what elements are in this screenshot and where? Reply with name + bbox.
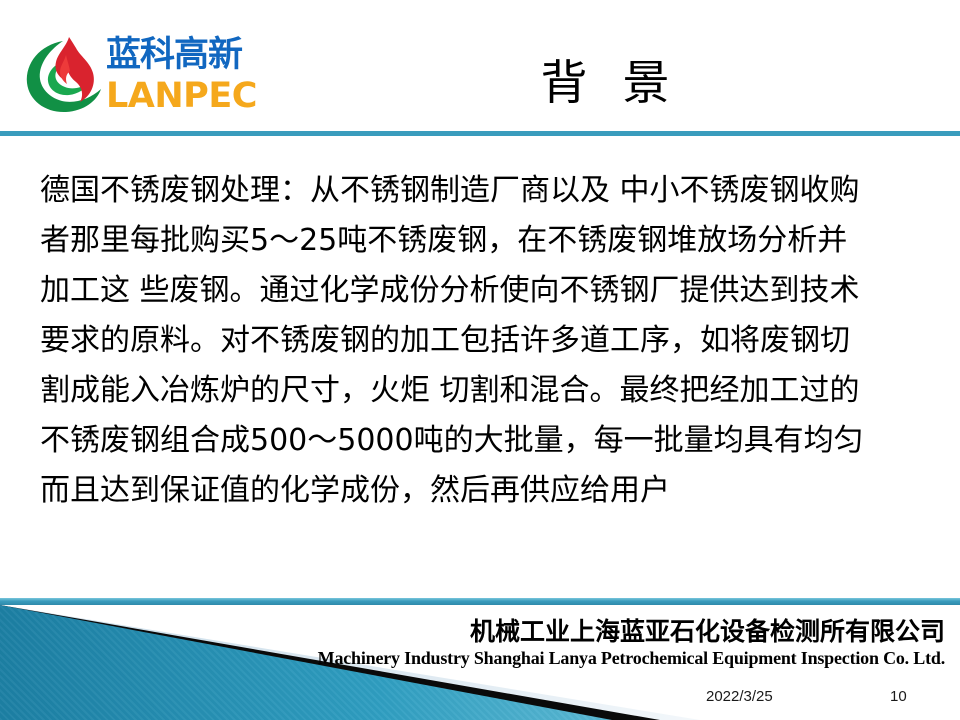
body-line: 加工这 些废钢。通过化学成份分析使向不锈钢厂提供达到技术 [40, 266, 930, 316]
slide-canvas: 蓝科高新 LANPEC 背 景 德国不锈废钢处理：从不锈钢制造厂商以及 中小不锈… [0, 0, 960, 720]
slide-header: 蓝科高新 LANPEC 背 景 [0, 0, 960, 131]
body-line: 不锈废钢组合成500～5000吨的大批量，每一批量均具有均匀 [40, 416, 930, 466]
footer-organization-chinese: 机械工业上海蓝亚石化设备检测所有限公司 [300, 612, 945, 648]
body-line: 要求的原料。对不锈废钢的加工包括许多道工序，如将废钢切 [40, 316, 930, 366]
footer-date: 2022/3/25 [706, 688, 773, 705]
slide-title: 背 景 [300, 44, 920, 113]
logo-chinese-name: 蓝科高新 [106, 33, 242, 77]
footer-page-number: 10 [890, 688, 930, 705]
body-line: 者那里每批购买5～25吨不锈废钢，在不锈废钢堆放场分析并 [40, 216, 930, 266]
header-divider [0, 131, 960, 136]
body-line: 割成能入冶炼炉的尺寸，火炬 切割和混合。最终把经加工过的 [40, 366, 930, 416]
logo-english-name: LANPEC [106, 76, 257, 116]
lanpec-flame-swoosh-logo-icon [22, 35, 104, 115]
logo-wordmark: 蓝科高新 LANPEC [106, 33, 276, 115]
footer-divider [0, 598, 960, 605]
slide-body-text: 德国不锈废钢处理：从不锈钢制造厂商以及 中小不锈废钢收购 者那里每批购买5～25… [40, 166, 930, 516]
body-line: 德国不锈废钢处理：从不锈钢制造厂商以及 中小不锈废钢收购 [40, 166, 930, 216]
footer-organization-english: Machinery Industry Shanghai Lanya Petroc… [180, 648, 945, 669]
company-logo: 蓝科高新 LANPEC [22, 33, 272, 118]
body-line: 而且达到保证值的化学成份，然后再供应给用户 [40, 466, 930, 516]
